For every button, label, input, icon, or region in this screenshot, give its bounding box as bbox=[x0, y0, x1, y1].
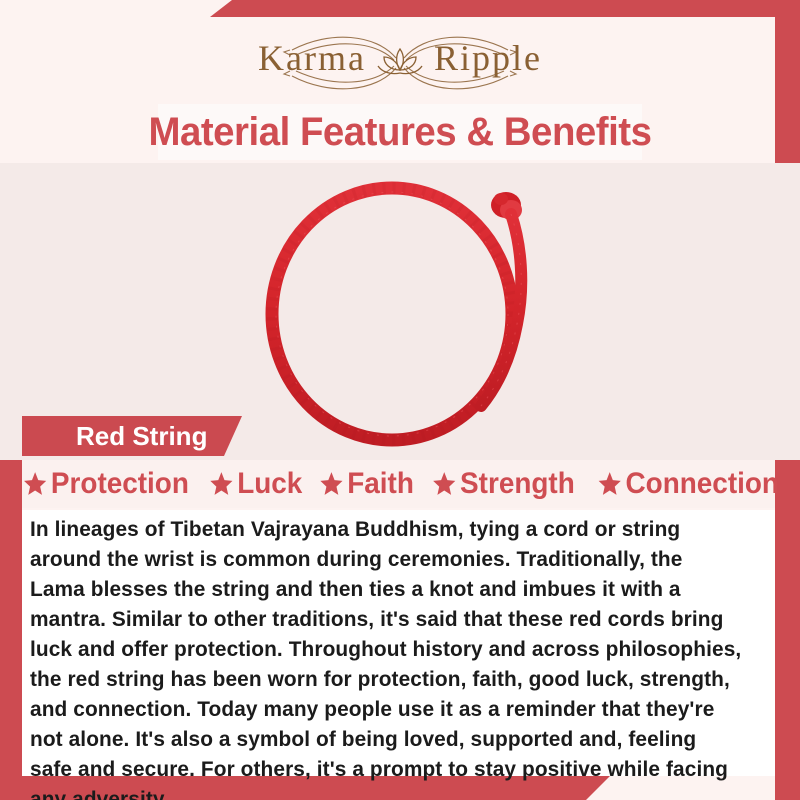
feature-item-label: Strength bbox=[460, 467, 575, 501]
star-icon bbox=[23, 471, 47, 497]
feature-item-label: Protection bbox=[51, 467, 189, 501]
description-panel: In lineages of Tibetan Vajrayana Buddhis… bbox=[22, 510, 775, 776]
product-image-bracelet bbox=[249, 174, 549, 449]
brand-name-left: Karma bbox=[258, 38, 366, 78]
description-text: In lineages of Tibetan Vajrayana Buddhis… bbox=[30, 514, 743, 800]
material-ribbon-label: Red String bbox=[22, 421, 207, 452]
infographic-page: Karma Ripple Material Features & Benefit… bbox=[0, 0, 800, 800]
feature-item-label: Faith bbox=[347, 467, 414, 501]
feature-item-connection: Connection bbox=[592, 467, 779, 501]
star-icon bbox=[597, 471, 621, 497]
feature-item-faith: Faith bbox=[313, 467, 413, 501]
feature-list: Protection Luck Faith Strength Connectio bbox=[22, 460, 775, 508]
feature-item-luck: Luck bbox=[203, 467, 302, 501]
feature-item-protection: Protection bbox=[18, 467, 189, 501]
material-ribbon: Red String bbox=[22, 416, 242, 456]
page-title: Material Features & Benefits bbox=[149, 110, 652, 155]
brand-name-right: Ripple bbox=[434, 38, 542, 78]
feature-item-label: Connection bbox=[625, 467, 778, 501]
brand-logo: Karma Ripple bbox=[0, 28, 800, 98]
star-icon bbox=[433, 471, 457, 497]
product-image-band bbox=[0, 163, 800, 460]
feature-item-strength: Strength bbox=[427, 467, 575, 501]
page-title-box: Material Features & Benefits bbox=[158, 104, 642, 160]
star-icon bbox=[319, 471, 343, 497]
feature-item-label: Luck bbox=[237, 467, 302, 501]
brand-logo-graphic: Karma Ripple bbox=[200, 28, 600, 98]
product-image-container bbox=[22, 163, 775, 460]
frame-bar-top bbox=[210, 0, 800, 17]
star-icon bbox=[209, 471, 233, 497]
